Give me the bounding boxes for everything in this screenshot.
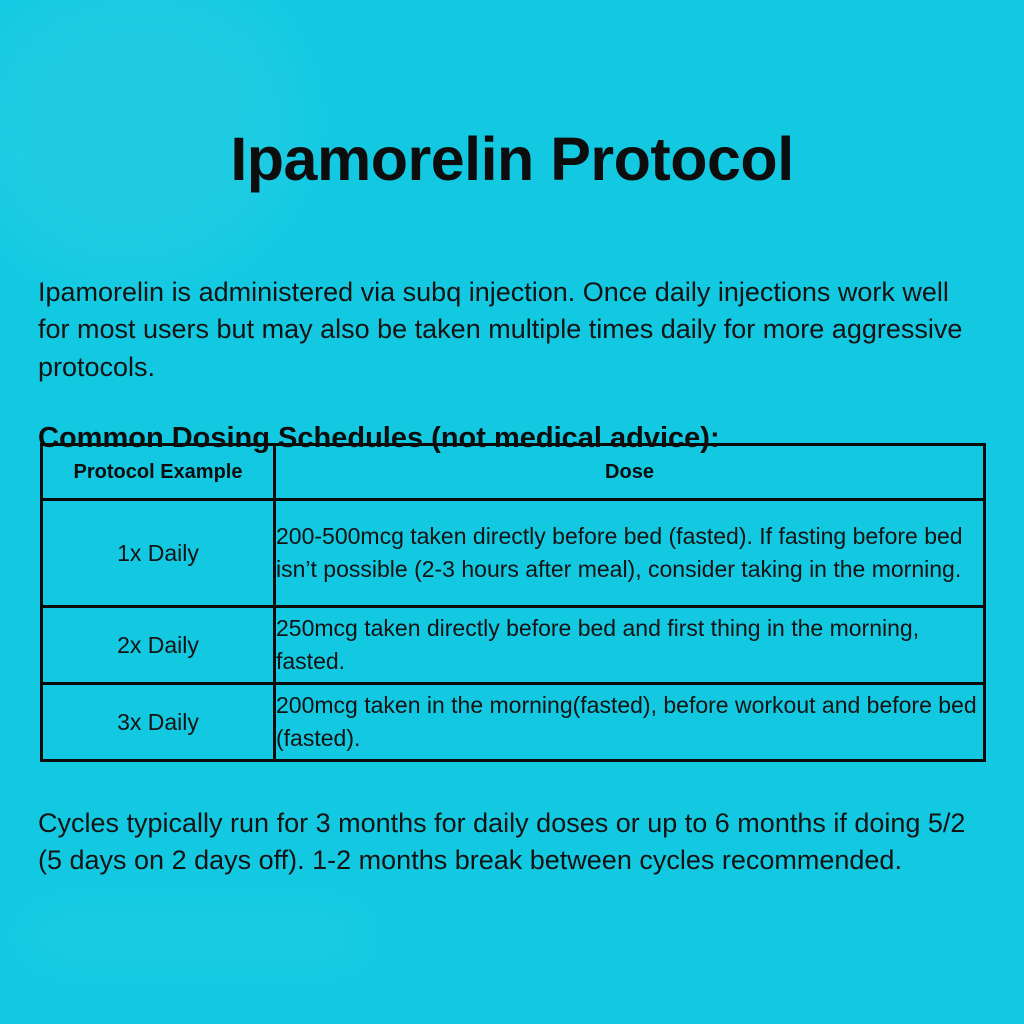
table-row: 1x Daily 200-500mcg taken directly befor… — [42, 500, 985, 607]
cell-dose-3x-daily: 200mcg taken in the morning(fasted), bef… — [275, 684, 985, 761]
dosing-schedules-table: Protocol Example Dose 1x Daily 200-500mc… — [40, 443, 986, 762]
table-row: 2x Daily 250mcg taken directly before be… — [42, 607, 985, 684]
table-body: 1x Daily 200-500mcg taken directly befor… — [42, 500, 985, 761]
table-header-row: Protocol Example Dose — [42, 445, 985, 500]
cell-protocol-3x-daily: 3x Daily — [42, 684, 275, 761]
cell-dose-1x-daily: 200-500mcg taken directly before bed (fa… — [275, 500, 985, 607]
protocol-page: Ipamorelin Protocol Ipamorelin is admini… — [0, 0, 1024, 1024]
table-header: Protocol Example Dose — [42, 445, 985, 500]
column-header-protocol-example: Protocol Example — [42, 445, 275, 500]
cell-protocol-1x-daily: 1x Daily — [42, 500, 275, 607]
column-header-dose: Dose — [275, 445, 985, 500]
intro-paragraph: Ipamorelin is administered via subq inje… — [38, 274, 968, 386]
cell-dose-2x-daily: 250mcg taken directly before bed and fir… — [275, 607, 985, 684]
page-title: Ipamorelin Protocol — [0, 127, 1024, 191]
outro-paragraph: Cycles typically run for 3 months for da… — [38, 805, 983, 880]
table-row: 3x Daily 200mcg taken in the morning(fas… — [42, 684, 985, 761]
cell-protocol-2x-daily: 2x Daily — [42, 607, 275, 684]
